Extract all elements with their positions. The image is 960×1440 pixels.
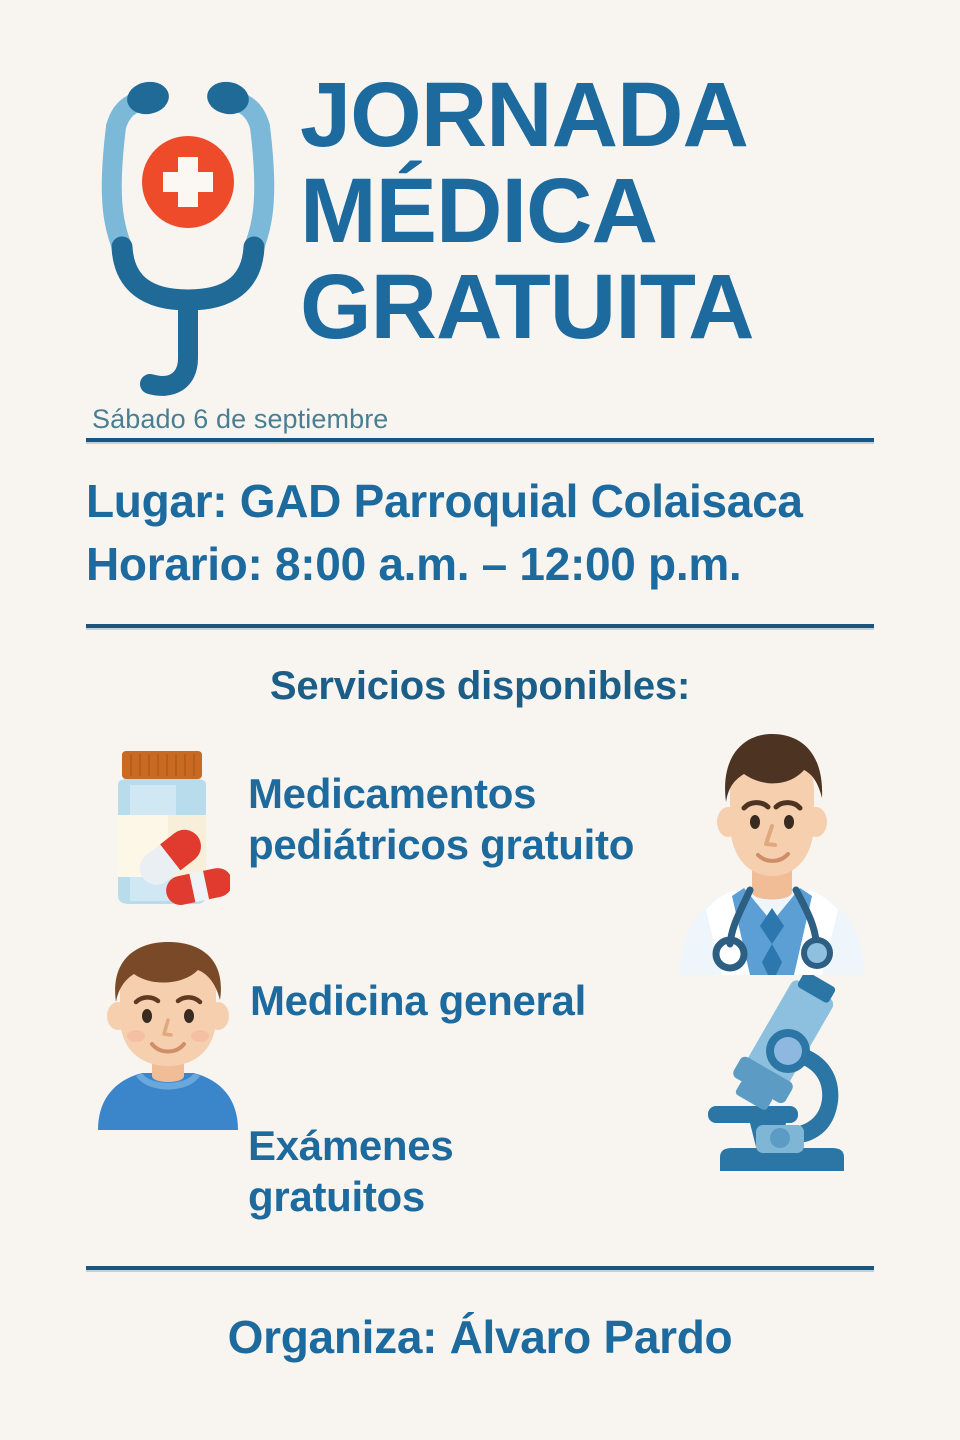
service-label-examenes: Exámenes gratuitos: [248, 1120, 578, 1222]
service-label-medicina-general: Medicina general: [250, 975, 680, 1026]
divider-thin-line: [86, 628, 874, 630]
poster-canvas: JORNADA MÉDICA GRATUITA Sábado 6 de sept…: [0, 0, 960, 1440]
divider-middle: [86, 624, 874, 630]
title-line-2: MÉDICA: [300, 166, 900, 256]
divider-bottom: [86, 1266, 874, 1272]
organizer-line: Organiza: Álvaro Pardo: [0, 1310, 960, 1364]
title-line-3: GRATUITA: [300, 262, 900, 352]
doctor-illustration: [672, 730, 872, 975]
poster-header: JORNADA MÉDICA GRATUITA Sábado 6 de sept…: [0, 0, 960, 400]
divider-thin-line: [86, 442, 874, 444]
poster-title: JORNADA MÉDICA GRATUITA: [300, 70, 900, 352]
services-heading: Servicios disponibles:: [0, 664, 960, 709]
microscope-icon: [694, 975, 864, 1180]
stethoscope-icon: [88, 72, 288, 402]
service-label-medicamentos: Medicamentos pediátricos gratuito: [248, 768, 728, 870]
title-line-1: JORNADA: [300, 70, 900, 160]
pill-bottle-icon: [100, 745, 230, 910]
divider-top: [86, 438, 874, 444]
event-info: Lugar: GAD Parroquial Colaisaca Horario:…: [86, 470, 886, 595]
event-date: Sábado 6 de septiembre: [92, 404, 388, 435]
event-place: Lugar: GAD Parroquial Colaisaca: [86, 470, 886, 533]
child-icon: [88, 940, 248, 1130]
divider-thin-line: [86, 1270, 874, 1272]
event-time: Horario: 8:00 a.m. – 12:00 p.m.: [86, 533, 886, 596]
